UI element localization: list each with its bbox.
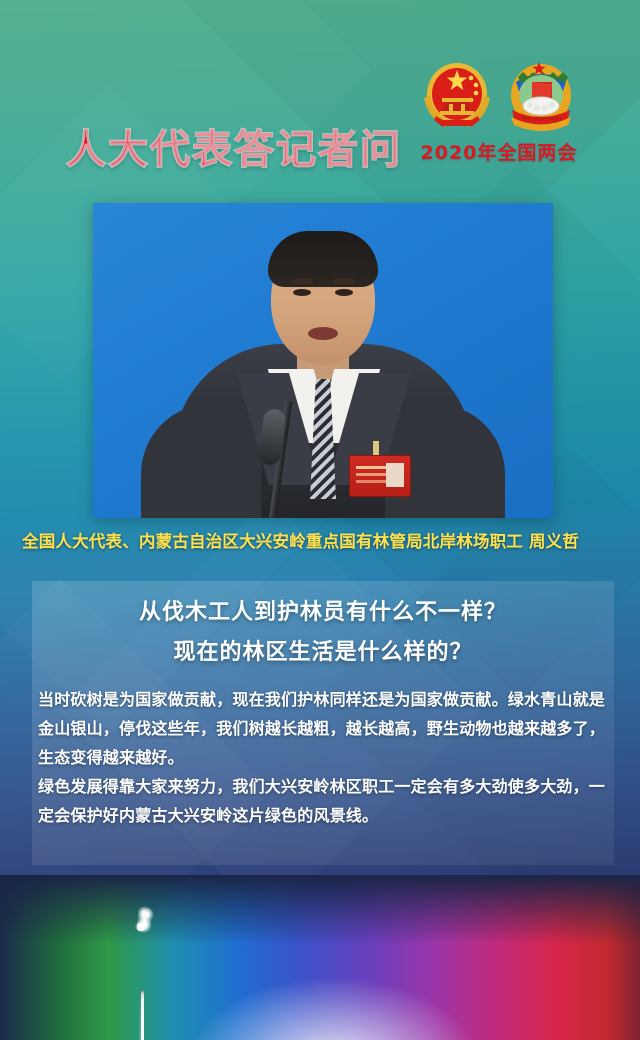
figure-shoulder-left	[141, 404, 261, 518]
speaker-photo	[93, 203, 553, 518]
speaker-caption: 全国人大代表、内蒙古自治区大兴安岭重点国有林管局北岸林场职工 周义哲	[22, 528, 622, 552]
emblem-group: 中国人民政治协商会议	[418, 58, 580, 134]
figure-eyebrow-right	[333, 279, 355, 284]
badge-text-lines	[356, 466, 386, 469]
session-label: 2020年全国两会	[418, 138, 580, 165]
figure-hair	[268, 231, 378, 287]
footer-top-fade	[0, 875, 640, 945]
music-decoration-footer: ♪♪♪♪♪♪♪♪♪♪♪♪♪♪♪♪♪♪♪♪♪♪♪♪♪♪♪♪♪♪♪♪♪♪♪♪♪♪♪♪…	[0, 875, 640, 1040]
figure-eye-left	[293, 289, 311, 296]
svg-text:中国人民政治协商会议: 中国人民政治协商会议	[522, 115, 562, 121]
answer-block: 当时砍树是为国家做贡献，现在我们护林同样还是为国家做贡献。绿水青山就是金山银山，…	[38, 685, 612, 830]
answer-paragraph-1: 当时砍树是为国家做贡献，现在我们护林同样还是为国家做贡献。绿水青山就是金山银山，…	[38, 685, 612, 772]
figure-eyebrow-left	[291, 279, 313, 284]
header: 人大代表答记者问	[0, 0, 640, 200]
figure-eye-right	[335, 289, 353, 296]
delegate-badge	[349, 455, 411, 497]
music-note-icon: ♪	[136, 909, 154, 933]
badge-portrait	[386, 463, 404, 487]
poster-root: 人大代表答记者问	[0, 0, 640, 1040]
answer-paragraph-2: 绿色发展得靠大家来努力，我们大兴安岭林区职工一定会有多大劲使多大劲，一定会保护好…	[38, 772, 612, 830]
cppcc-emblem-icon: 中国人民政治协商会议	[506, 58, 576, 134]
page-title: 人大代表答记者问	[66, 117, 402, 175]
light-beam	[141, 990, 144, 1040]
question-block: 从伐木工人到护林员有什么不一样？ 现在的林区生活是什么样的？	[32, 593, 614, 673]
content-panel: 从伐木工人到护林员有什么不一样？ 现在的林区生活是什么样的？ 当时砍树是为国家做…	[32, 581, 614, 865]
question-line-2: 现在的林区生活是什么样的？	[32, 633, 614, 673]
national-emblem-of-china-icon	[422, 58, 492, 134]
question-line-1: 从伐木工人到护林员有什么不一样？	[32, 593, 614, 633]
figure-mouth	[308, 327, 338, 340]
